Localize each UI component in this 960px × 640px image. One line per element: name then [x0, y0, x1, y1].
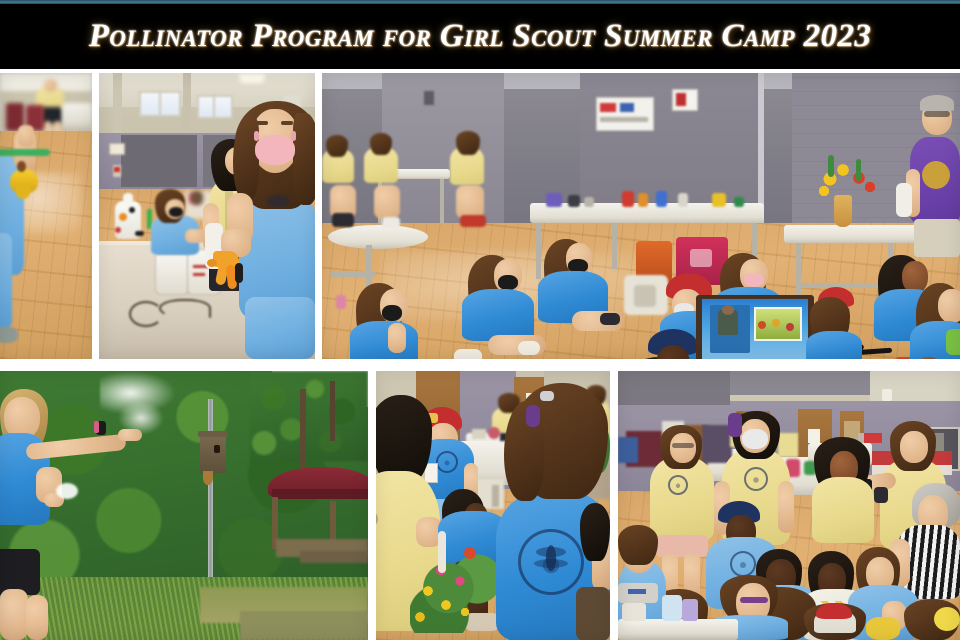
- photo-grid: [0, 73, 960, 640]
- photo-bottom-center[interactable]: [376, 371, 610, 640]
- title-banner: Pollinator Program for Girl Scout Summer…: [0, 4, 960, 69]
- photo-bottom-left-scene: [0, 371, 368, 640]
- photo-top-left[interactable]: [0, 73, 92, 359]
- photo-top-center-scene: [99, 73, 315, 359]
- photo-top-right-scene: [322, 73, 960, 359]
- photo-bottom-right[interactable]: [618, 371, 960, 640]
- photo-bottom-left[interactable]: [0, 371, 368, 640]
- photo-top-left-scene: [0, 73, 92, 359]
- photo-top-right[interactable]: [322, 73, 960, 359]
- page-title: Pollinator Program for Girl Scout Summer…: [89, 18, 872, 55]
- photo-bottom-right-scene: [618, 371, 960, 640]
- poster-canvas: Pollinator Program for Girl Scout Summer…: [0, 0, 960, 640]
- photo-bottom-center-scene: [376, 371, 610, 640]
- photo-top-center[interactable]: [99, 73, 315, 359]
